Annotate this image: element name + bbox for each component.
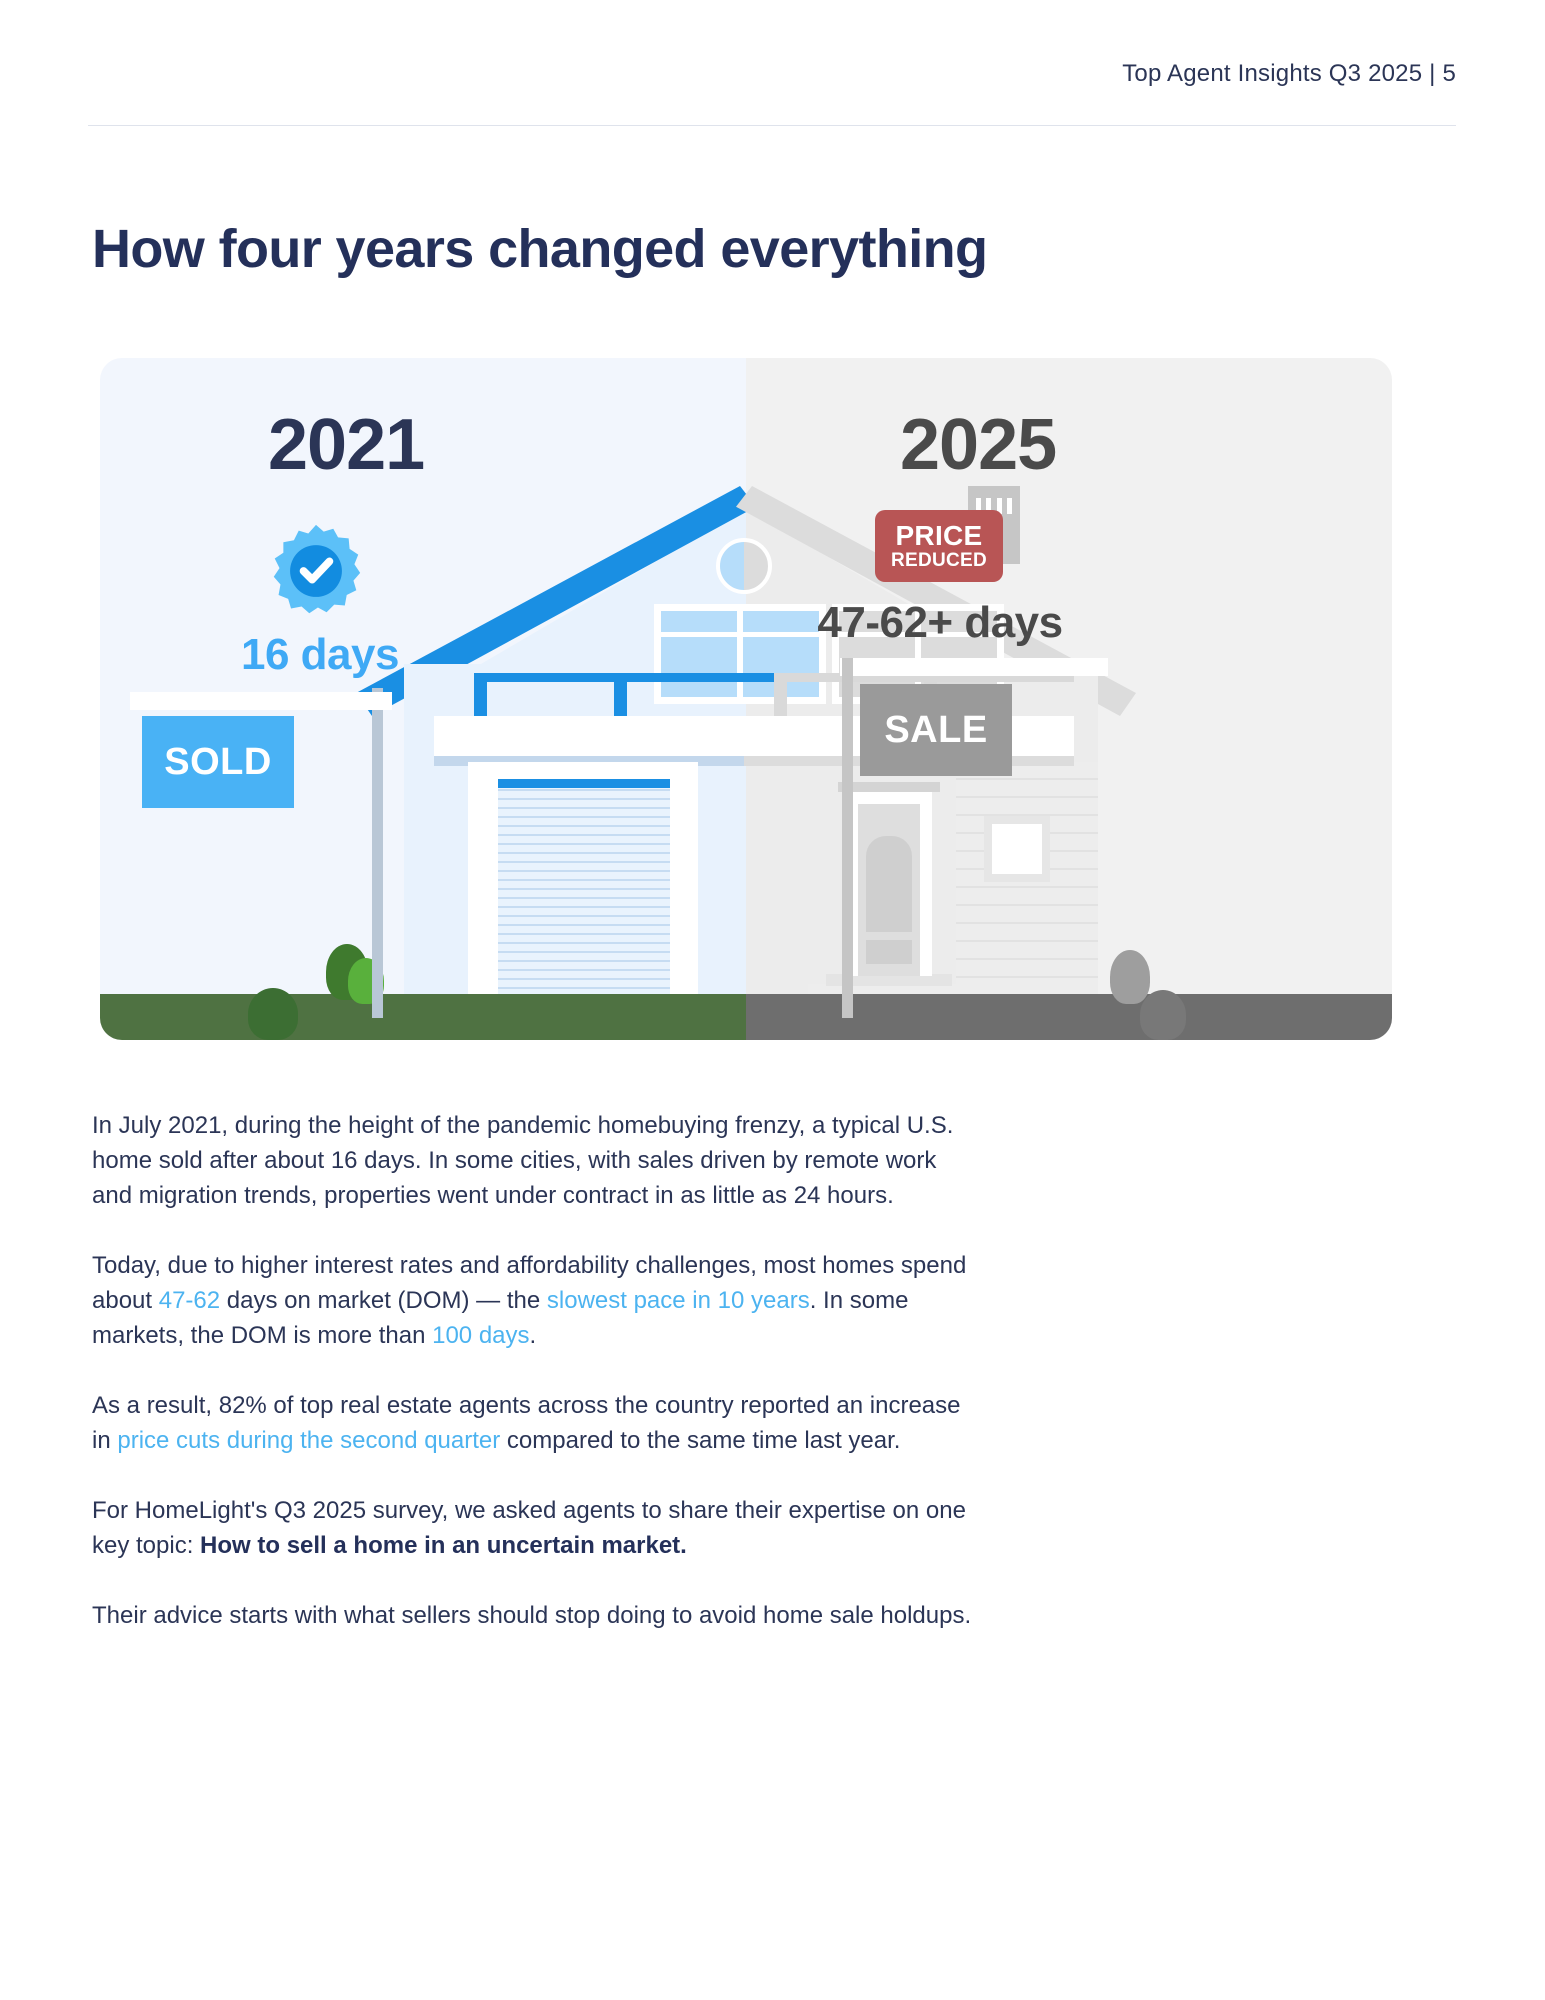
balcony-rail-left bbox=[474, 673, 774, 719]
body-copy: In July 2021, during the height of the p… bbox=[92, 1108, 972, 1633]
paragraph-3: As a result, 82% of top real estate agen… bbox=[92, 1388, 972, 1458]
bush-gray-dark bbox=[1140, 990, 1186, 1040]
p3-text-b: compared to the same time last year. bbox=[500, 1427, 900, 1454]
garage-door-header bbox=[498, 779, 670, 788]
ground-grass-left bbox=[100, 994, 746, 1040]
document-page: Top Agent Insights Q3 2025 | 5 How four … bbox=[0, 0, 1545, 2000]
page-title: How four years changed everything bbox=[92, 218, 987, 280]
house-illustration bbox=[356, 464, 1136, 994]
p5-text: Their advice starts with what sellers sh… bbox=[92, 1602, 971, 1629]
sold-sign-post bbox=[372, 688, 383, 1018]
paragraph-1: In July 2021, during the height of the p… bbox=[92, 1108, 972, 1213]
price-reduced-badge: PRICE REDUCED bbox=[875, 510, 1003, 582]
sale-sign: SALE bbox=[860, 684, 1012, 776]
front-door-panel-lower bbox=[866, 940, 912, 964]
garage-door bbox=[498, 782, 670, 994]
p2-text-d: . bbox=[530, 1322, 537, 1349]
header-divider bbox=[88, 125, 1456, 126]
verified-check-icon bbox=[268, 523, 364, 619]
sold-sign-label: SOLD bbox=[164, 741, 272, 784]
attic-window-icon bbox=[716, 538, 772, 594]
front-door-panel-upper bbox=[866, 836, 912, 932]
days-on-market-2021: 16 days bbox=[140, 630, 500, 680]
days-on-market-2025: 47-62+ days bbox=[730, 598, 1150, 648]
sale-sign-label: SALE bbox=[884, 709, 987, 752]
paragraph-2: Today, due to higher interest rates and … bbox=[92, 1248, 972, 1353]
link-slowest-pace[interactable]: slowest pace in 10 years bbox=[547, 1287, 810, 1314]
price-reduced-line1: PRICE bbox=[895, 521, 982, 550]
link-100-days[interactable]: 100 days bbox=[432, 1322, 529, 1349]
p1-text: In July 2021, during the height of the p… bbox=[92, 1112, 953, 1209]
paragraph-4: For HomeLight's Q3 2025 survey, we asked… bbox=[92, 1493, 972, 1563]
header-label: Top Agent Insights Q3 2025 | 5 bbox=[1122, 60, 1456, 87]
sold-sign: SOLD bbox=[142, 716, 294, 808]
paragraph-5: Their advice starts with what sellers sh… bbox=[92, 1598, 972, 1633]
page-header: Top Agent Insights Q3 2025 | 5 bbox=[88, 60, 1456, 88]
p4-emphasis: How to sell a home in an uncertain marke… bbox=[200, 1532, 687, 1559]
p2-text-b: days on market (DOM) — the bbox=[220, 1287, 547, 1314]
price-reduced-line2: REDUCED bbox=[891, 550, 987, 573]
link-price-cuts[interactable]: price cuts during the second quarter bbox=[117, 1427, 500, 1454]
sale-sign-arm bbox=[840, 658, 1108, 676]
comparison-illustration: 2021 2025 bbox=[100, 358, 1392, 1040]
front-door-lintel bbox=[838, 782, 940, 792]
bush-green-left bbox=[248, 988, 298, 1040]
sale-sign-post bbox=[842, 658, 853, 1018]
bush-gray-light bbox=[1110, 950, 1150, 1004]
sold-sign-arm bbox=[130, 692, 392, 710]
window-side-right bbox=[984, 816, 1050, 882]
link-47-62[interactable]: 47-62 bbox=[159, 1287, 220, 1314]
